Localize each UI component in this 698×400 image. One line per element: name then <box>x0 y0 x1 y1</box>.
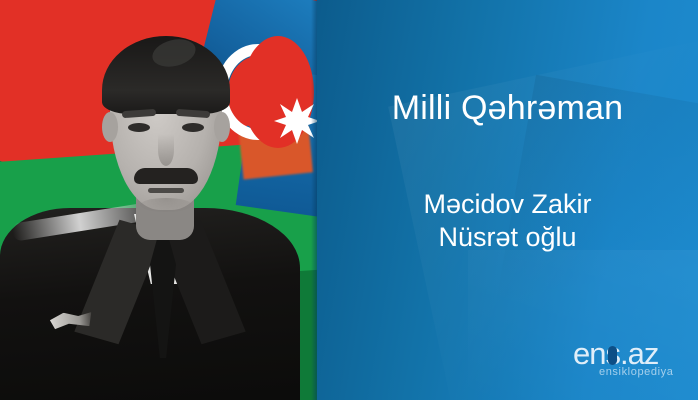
hero-banner: Milli Qəhrəman Məcidov Zakir Nüsrət oğlu… <box>0 0 698 400</box>
eye-left <box>128 123 150 132</box>
portrait-figure <box>52 16 292 400</box>
logo-wordmark: ens.az <box>573 338 683 369</box>
mustache <box>134 168 198 184</box>
ear-left <box>102 112 118 142</box>
portrait-photograph <box>0 0 317 400</box>
page-title: Milli Qəhrəman <box>317 88 698 128</box>
chin <box>140 198 192 212</box>
logo-tagline: ensiklopediya <box>599 366 673 378</box>
site-logo[interactable]: ens.az ensiklopediya <box>573 338 683 380</box>
nose <box>158 134 174 166</box>
subject-name: Məcidov Zakir Nüsrət oğlu <box>317 188 698 254</box>
subject-name-line-2: Nüsrət oğlu <box>317 221 698 254</box>
mouth <box>148 188 184 193</box>
logo-dot-icon <box>608 346 617 365</box>
subject-name-line-1: Məcidov Zakir <box>317 188 698 221</box>
eye-right <box>182 123 204 132</box>
ear-right <box>214 112 230 142</box>
